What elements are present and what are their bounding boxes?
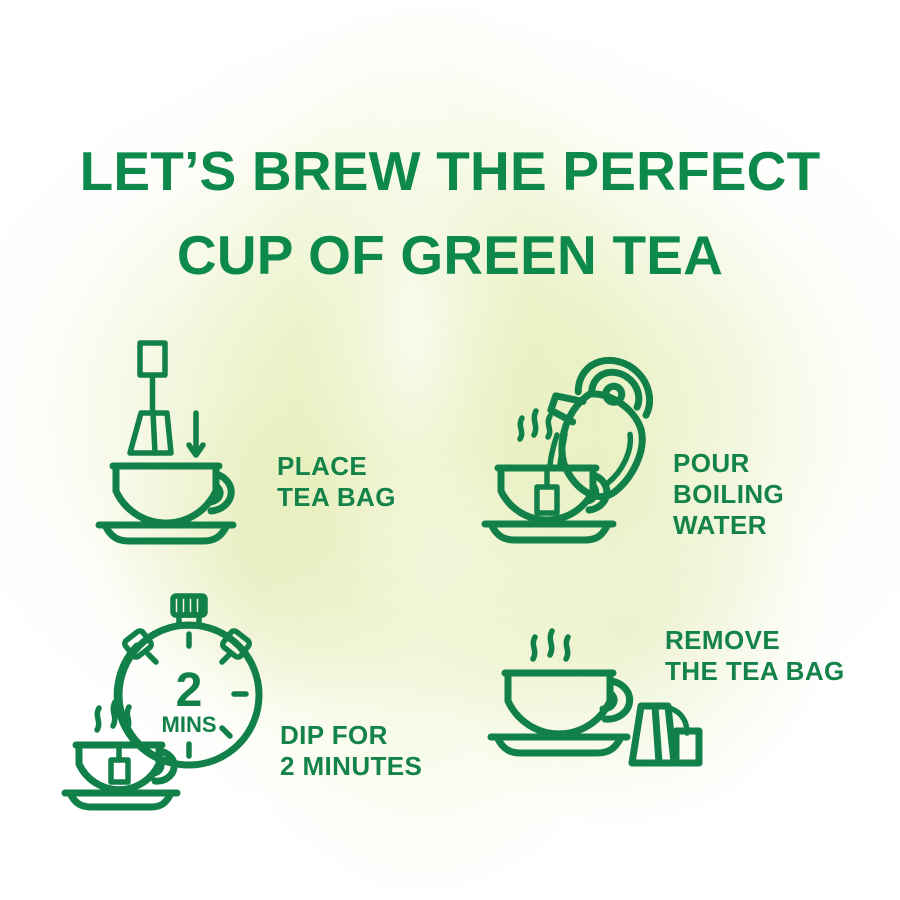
- step-label-line: TEA BAG: [277, 482, 396, 513]
- tea-bag-into-cup-icon: [95, 335, 275, 550]
- step-label-line: PLACE: [277, 451, 396, 482]
- step-remove-the-tea-bag: REMOVE THE TEA BAG: [495, 615, 875, 815]
- step-label-line: WATER: [673, 510, 784, 541]
- stopwatch-with-cup-icon: 2 MINS: [65, 590, 285, 810]
- brew-instructions-poster: LET’S BREW THE PERFECT CUP OF GREEN TEA: [0, 0, 900, 900]
- step-label-pour-boiling-water: POUR BOILING WATER: [673, 448, 784, 541]
- step-label-line: POUR: [673, 448, 784, 479]
- stopwatch-unit: MINS: [162, 712, 217, 737]
- step-label-remove-the-tea-bag: REMOVE THE TEA BAG: [665, 625, 845, 687]
- kettle-pouring-into-cup-icon: [495, 335, 695, 550]
- step-dip-for-2-minutes: 2 MINS: [65, 590, 445, 815]
- step-label-dip-for-2-minutes: DIP FOR 2 MINUTES: [280, 720, 422, 782]
- step-label-line: 2 MINUTES: [280, 751, 422, 782]
- step-label-place-tea-bag: PLACE TEA BAG: [277, 451, 396, 513]
- stopwatch-value: 2: [176, 664, 203, 717]
- step-pour-boiling-water: POUR BOILING WATER: [495, 335, 865, 560]
- step-label-line: DIP FOR: [280, 720, 422, 751]
- step-place-tea-bag: PLACE TEA BAG: [95, 335, 435, 560]
- step-label-line: REMOVE: [665, 625, 845, 656]
- step-label-line: BOILING: [673, 479, 784, 510]
- step-label-line: THE TEA BAG: [665, 656, 845, 687]
- steps-grid: PLACE TEA BAG: [0, 0, 900, 900]
